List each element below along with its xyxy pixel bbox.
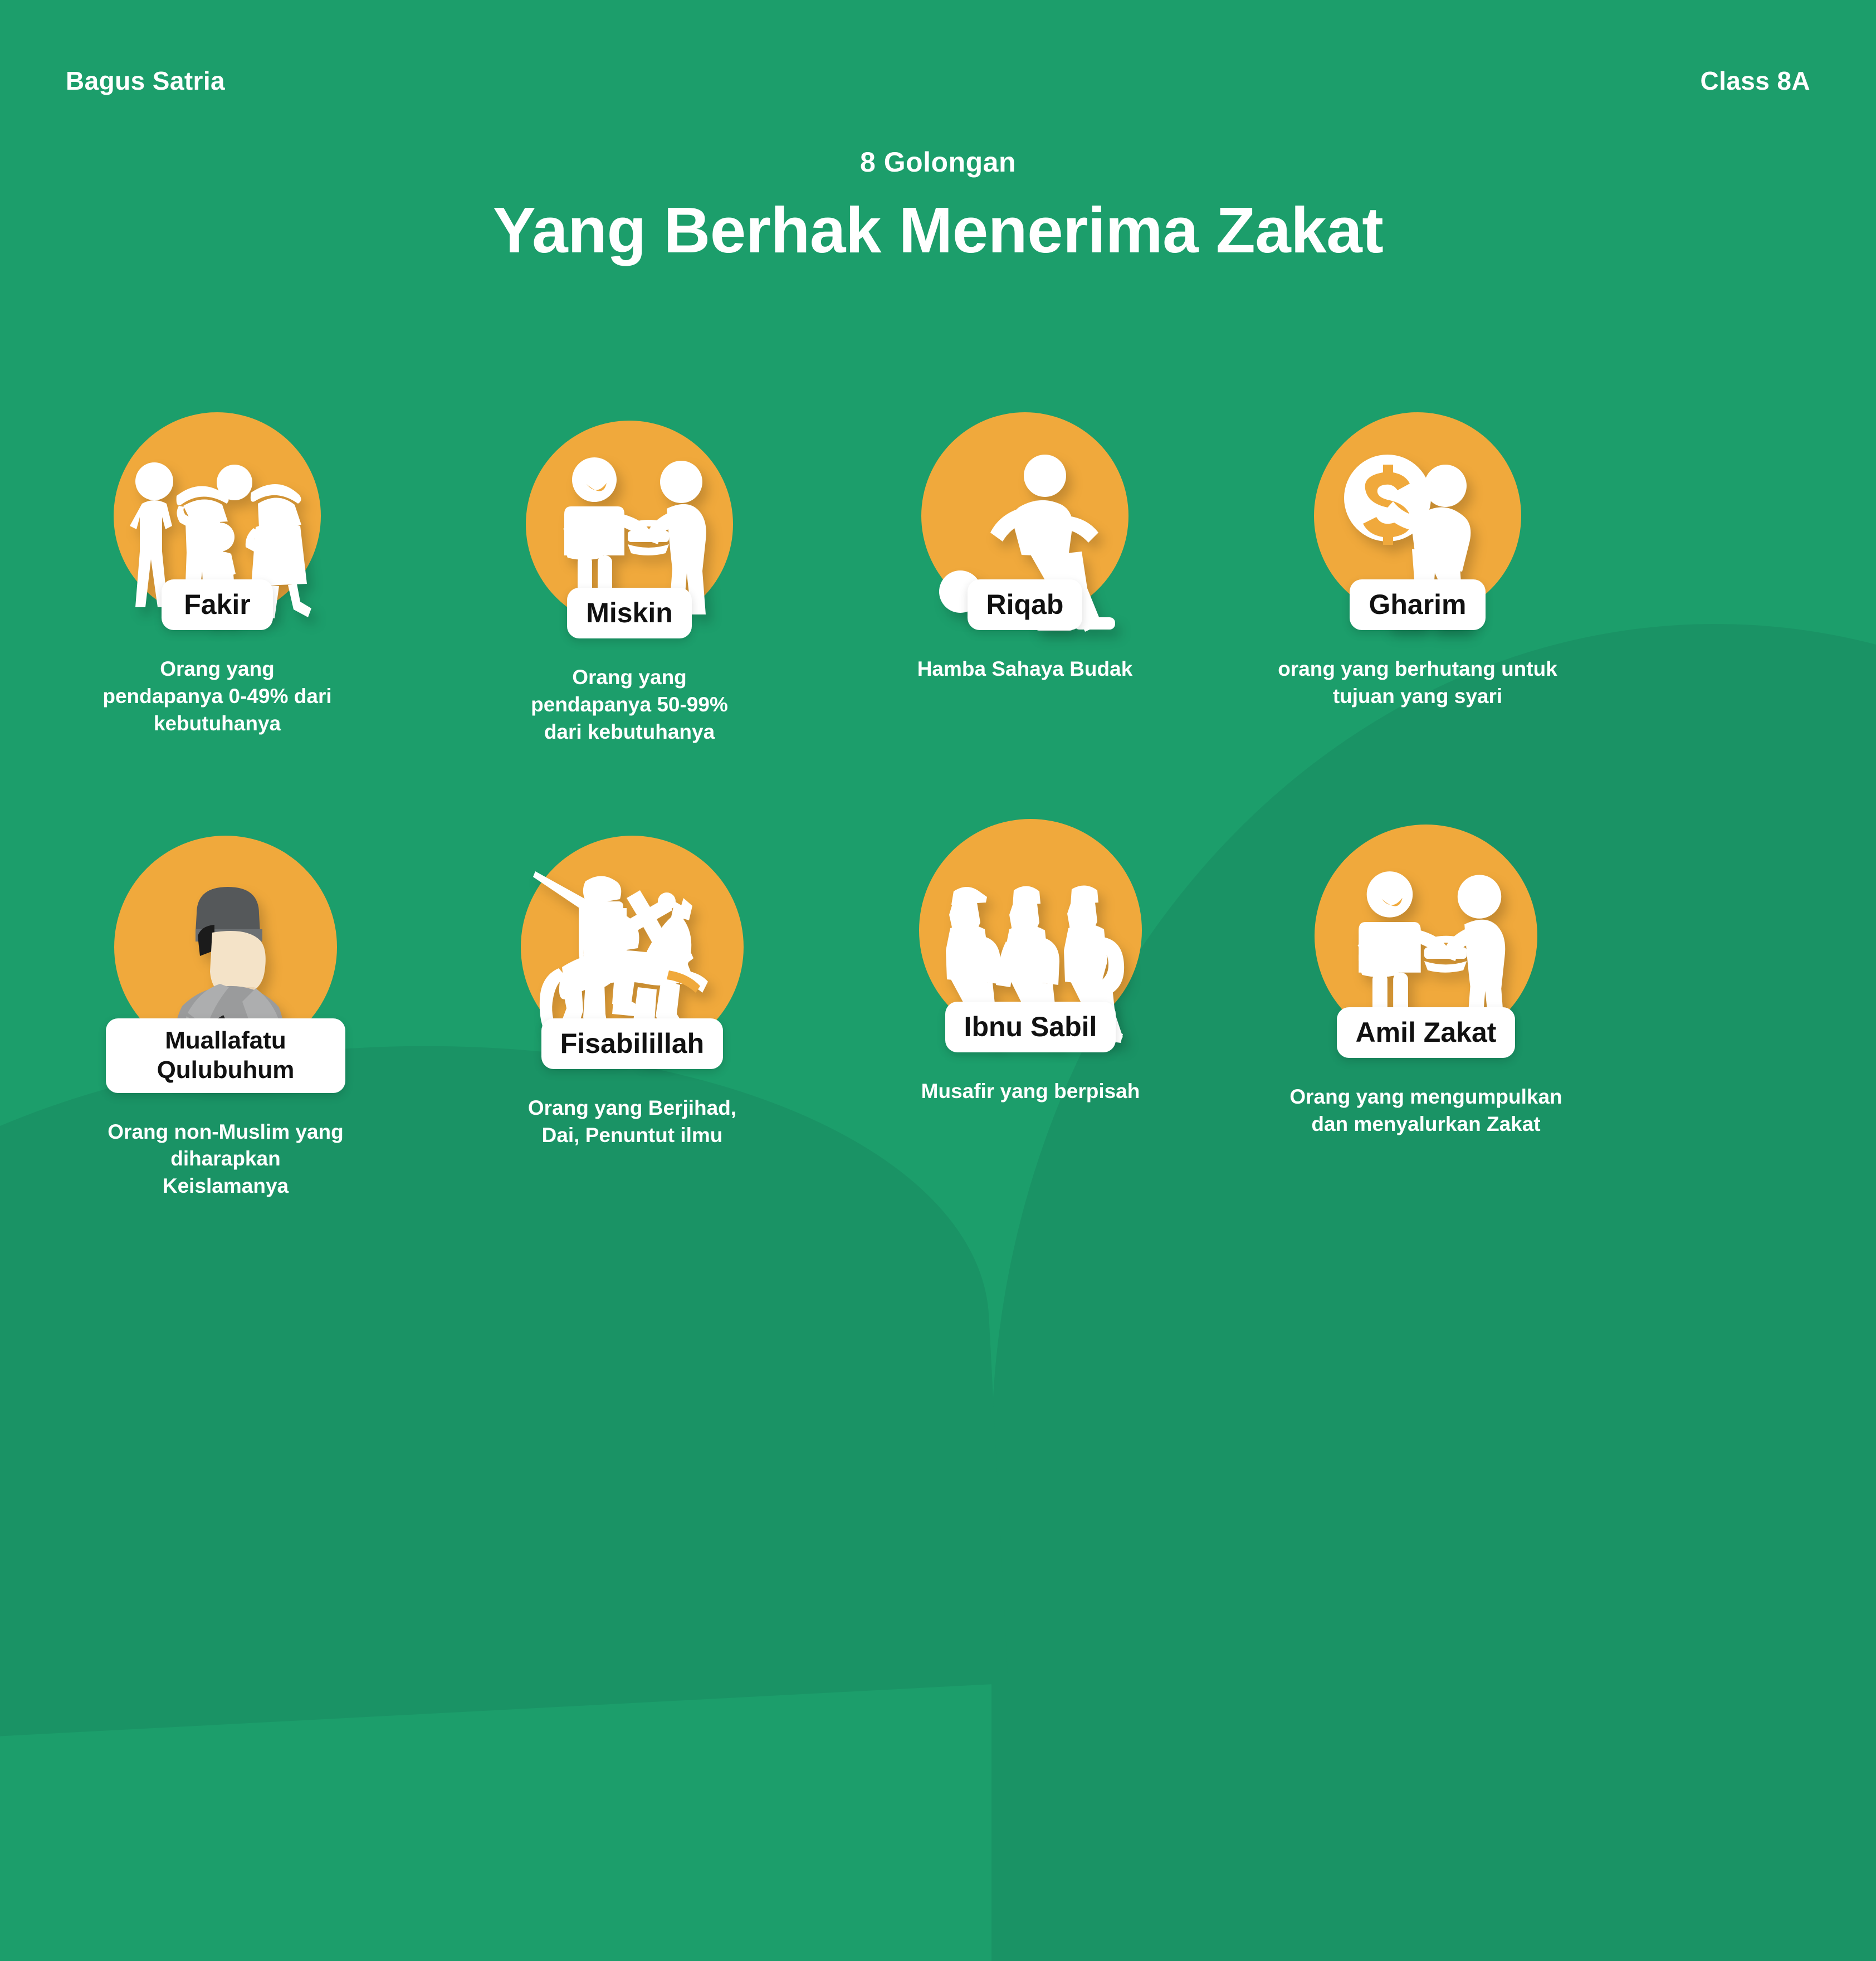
card-label: Fakir [162,579,273,630]
title-block: 8 Golongan Yang Berhak Menerima Zakat [0,146,1876,267]
author-name: Bagus Satria [66,66,225,96]
card-caption: Orang non-Muslim yang diharapkan Keislam… [106,1119,345,1200]
card-caption: Orang yang pendapanya 0-49% dari kebutuh… [97,656,337,737]
card-label: Gharim [1350,579,1485,630]
header-bar: Bagus Satria Class 8A [0,66,1876,96]
card-caption: Orang yang Berjihad, Dai, Penuntut ilmu [512,1095,752,1149]
card-caption: Hamba Sahaya Budak [905,656,1145,683]
card-amil-zakat[interactable]: Amil Zakat Orang yang mengumpulkan dan m… [1306,825,1546,1138]
card-label: Riqab [968,579,1083,630]
card-label: Fisabilillah [541,1018,723,1069]
card-caption: Musafir yang berpisah [911,1078,1150,1105]
card-label: Amil Zakat [1337,1007,1516,1058]
card-riqab[interactable]: Riqab Hamba Sahaya Budak [905,412,1145,683]
card-label: Miskin [567,588,692,638]
card-gharim[interactable]: Gharim orang yang berhutang untuk tujuan… [1298,412,1537,710]
card-miskin[interactable]: Miskin Orang yang pendapanya 50-99% dari… [510,421,749,745]
page-title: Yang Berhak Menerima Zakat [0,193,1876,267]
card-caption: Orang yang pendapanya 50-99% dari kebutu… [510,664,749,745]
card-fisabilillah[interactable]: Fisabilillah Orang yang Berjihad, Dai, P… [512,836,752,1149]
subtitle: 8 Golongan [0,146,1876,178]
class-name: Class 8A [1700,66,1810,96]
card-fakir[interactable]: Fakir Orang yang pendapanya 0-49% dari k… [97,412,337,737]
card-label: Ibnu Sabil [945,1002,1116,1052]
card-caption: orang yang berhutang untuk tujuan yang s… [1273,656,1562,710]
card-ibnu-sabil[interactable]: Ibnu Sabil Musafir yang berpisah [911,819,1150,1105]
card-caption: Orang yang mengumpulkan dan menyalurkan … [1281,1084,1571,1138]
card-muallafatu-qulubuhum[interactable]: Muallafatu Qulubuhum Orang non-Muslim ya… [106,836,345,1200]
card-label: Muallafatu Qulubuhum [106,1018,345,1093]
